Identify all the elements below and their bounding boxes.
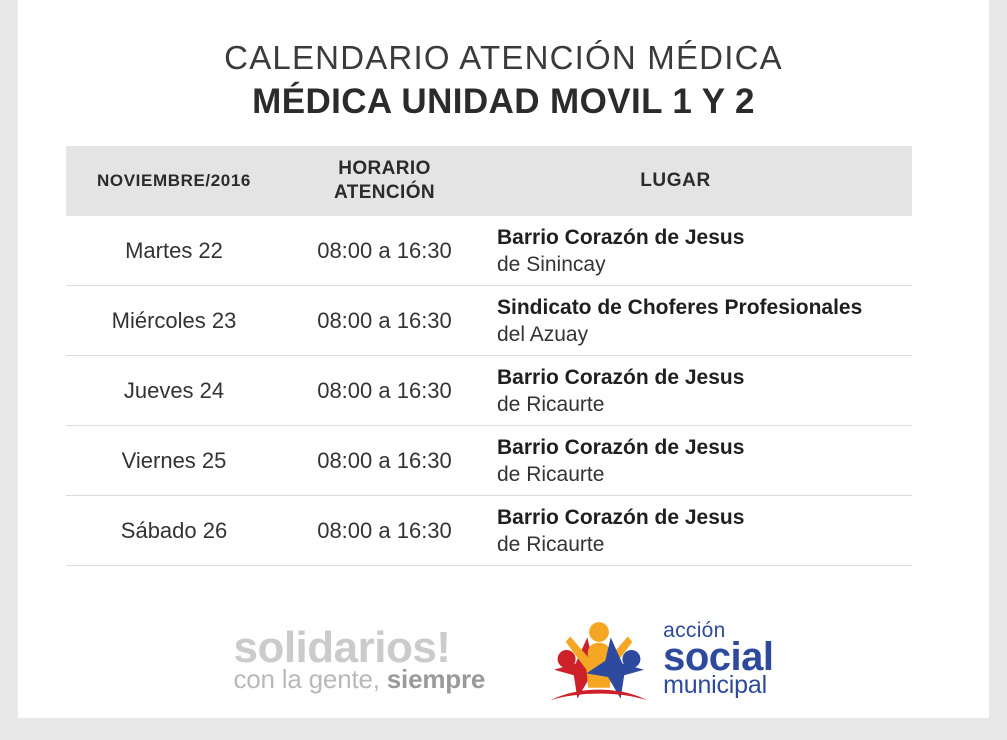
cell-date: Sábado 26 (66, 518, 282, 544)
cell-date: Jueves 24 (66, 378, 282, 404)
cell-time: 08:00 a 16:30 (282, 448, 487, 474)
solidarios-tagline-bold: siempre (387, 664, 485, 694)
cell-time: 08:00 a 16:30 (282, 238, 487, 264)
cell-place: Barrio Corazón de Jesus de Ricaurte (487, 434, 912, 488)
table-row: Martes 22 08:00 a 16:30 Barrio Corazón d… (66, 216, 912, 286)
cell-time: 08:00 a 16:30 (282, 378, 487, 404)
cell-place: Barrio Corazón de Jesus de Sinincay (487, 224, 912, 278)
cell-place-main: Barrio Corazón de Jesus (497, 434, 912, 461)
table-row: Miércoles 23 08:00 a 16:30 Sindicato de … (66, 286, 912, 356)
page-canvas: CALENDARIO ATENCIÓN MÉDICA MÉDICA UNIDAD… (0, 0, 1007, 740)
schedule-table: NOVIEMBRE/2016 HORARIO ATENCIÓN LUGAR Ma… (66, 146, 912, 566)
cell-place-main: Barrio Corazón de Jesus (497, 364, 912, 391)
title-line-secondary: MÉDICA UNIDAD MOVIL 1 Y 2 (18, 80, 989, 124)
cell-place-main: Sindicato de Choferes Profesionales (497, 294, 912, 321)
cell-place-sub: del Azuay (497, 321, 912, 348)
cell-place-sub: de Ricaurte (497, 531, 912, 558)
cell-place-sub: de Ricaurte (497, 391, 912, 418)
table-row: Sábado 26 08:00 a 16:30 Barrio Corazón d… (66, 496, 912, 566)
cell-place-main: Barrio Corazón de Jesus (497, 224, 912, 251)
cell-date: Viernes 25 (66, 448, 282, 474)
cell-place: Sindicato de Choferes Profesionales del … (487, 294, 912, 348)
page-title: CALENDARIO ATENCIÓN MÉDICA MÉDICA UNIDAD… (18, 38, 989, 124)
content-card: CALENDARIO ATENCIÓN MÉDICA MÉDICA UNIDAD… (18, 0, 989, 718)
accion-line-municipal: municipal (663, 673, 773, 698)
cell-date: Miércoles 23 (66, 308, 282, 334)
footer-logos: solidarios! con la gente, siempre (18, 600, 989, 718)
table-header-row: NOVIEMBRE/2016 HORARIO ATENCIÓN LUGAR (66, 146, 912, 216)
accion-wordmark: acción social municipal (663, 620, 773, 698)
three-people-star-figures-icon (545, 613, 653, 705)
column-header-place: LUGAR (487, 170, 912, 192)
cell-place-sub: de Sinincay (497, 251, 912, 278)
solidarios-tagline: con la gente, siempre (233, 666, 485, 692)
table-row: Jueves 24 08:00 a 16:30 Barrio Corazón d… (66, 356, 912, 426)
cell-place: Barrio Corazón de Jesus de Ricaurte (487, 504, 912, 558)
accion-social-municipal-logo: acción social municipal (545, 613, 773, 705)
column-header-month: NOVIEMBRE/2016 (66, 171, 282, 191)
cell-time: 08:00 a 16:30 (282, 308, 487, 334)
column-header-schedule-line2: ATENCIÓN (282, 181, 487, 205)
title-line-primary: CALENDARIO ATENCIÓN MÉDICA (18, 38, 989, 78)
cell-place-main: Barrio Corazón de Jesus (497, 504, 912, 531)
column-header-schedule: HORARIO ATENCIÓN (282, 157, 487, 205)
cell-place-sub: de Ricaurte (497, 461, 912, 488)
cell-time: 08:00 a 16:30 (282, 518, 487, 544)
solidarios-tagline-normal: con la gente, (233, 664, 386, 694)
table-row: Viernes 25 08:00 a 16:30 Barrio Corazón … (66, 426, 912, 496)
solidarios-logo: solidarios! con la gente, siempre (233, 626, 485, 692)
cell-date: Martes 22 (66, 238, 282, 264)
column-header-schedule-line1: HORARIO (282, 157, 487, 181)
cell-place: Barrio Corazón de Jesus de Ricaurte (487, 364, 912, 418)
